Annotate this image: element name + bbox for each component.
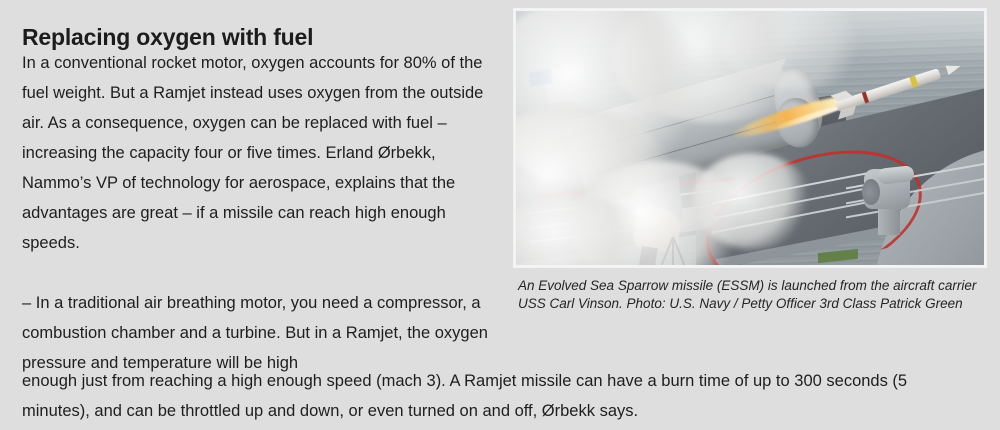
article-body-wraparound: enough just from reaching a high enough …: [22, 366, 962, 426]
article-figure: [513, 8, 987, 268]
page-title: Replacing oxygen with fuel: [22, 24, 492, 50]
missile-launch-photo: [516, 11, 984, 265]
smoke-plume: [692, 153, 812, 249]
figure-caption: An Evolved Sea Sparrow missile (ESSM) is…: [518, 277, 980, 312]
article-body-column: In a conventional rocket motor, oxygen a…: [22, 48, 500, 378]
article-card: Replacing oxygen with fuel In a conventi…: [0, 0, 1000, 430]
paragraph-1: In a conventional rocket motor, oxygen a…: [22, 48, 500, 258]
paragraph-2: – In a traditional air breathing motor, …: [22, 288, 500, 378]
sensor-lens: [862, 179, 880, 205]
paragraph-2-tail: enough just from reaching a high enough …: [22, 366, 962, 426]
sensor-pedestal: [878, 207, 900, 235]
